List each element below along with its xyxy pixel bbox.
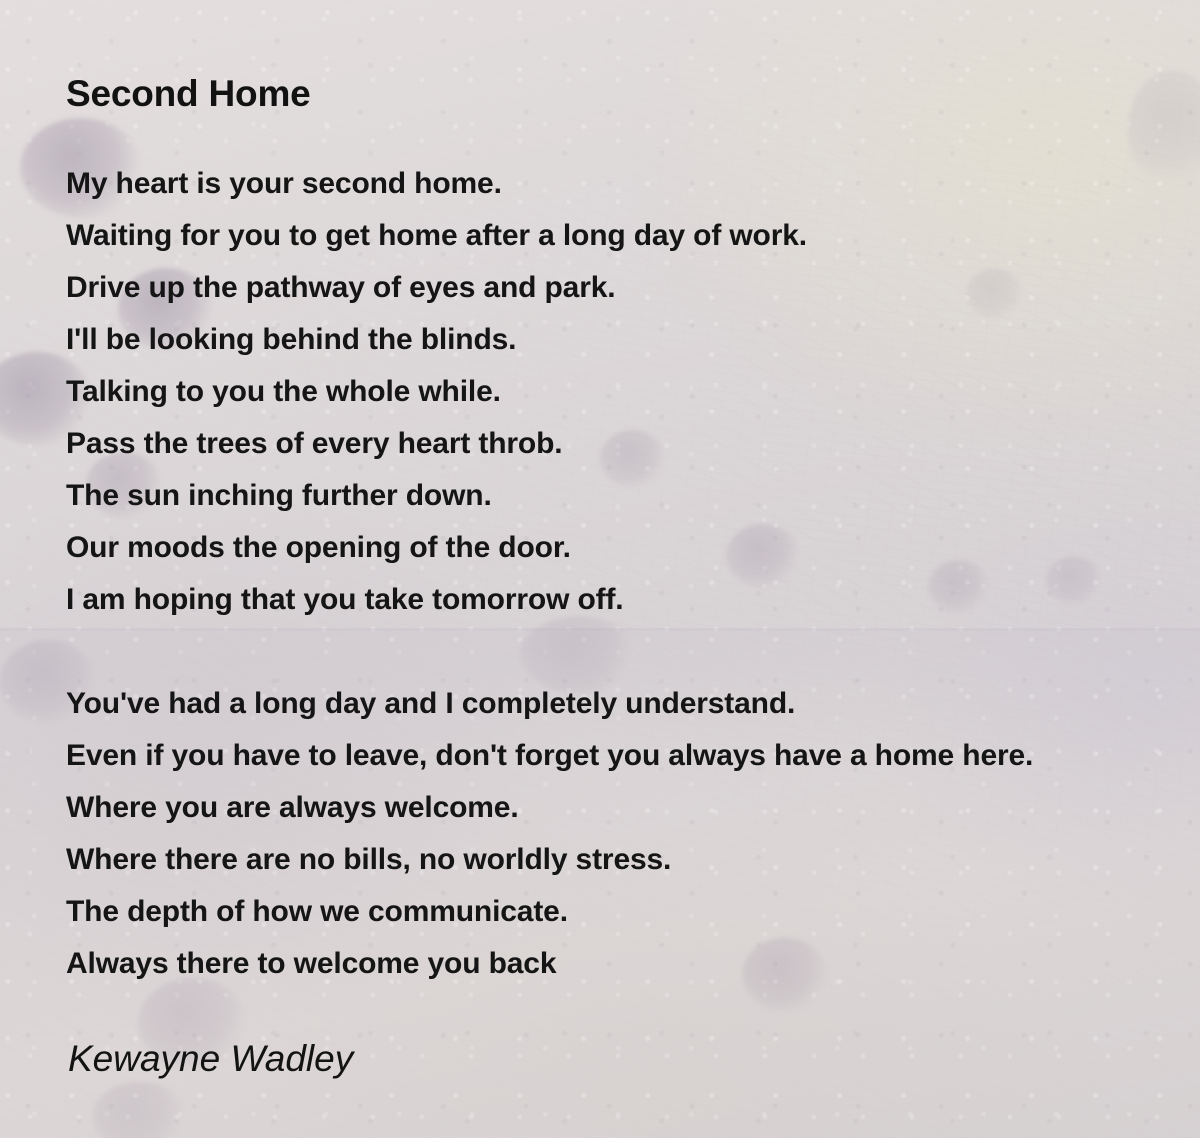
poem-line: I am hoping that you take tomorrow off.: [66, 574, 1176, 626]
poem-line: Drive up the pathway of eyes and park.: [66, 262, 1176, 314]
poem-page: Second Home My heart is your second home…: [0, 0, 1200, 1138]
poem-line: Waiting for you to get home after a long…: [66, 210, 1176, 262]
stanza: You've had a long day and I completely u…: [66, 678, 1176, 990]
poem-line: Our moods the opening of the door.: [66, 522, 1176, 574]
poem-line: I'll be looking behind the blinds.: [66, 314, 1176, 366]
poem-line: Where there are no bills, no worldly str…: [66, 834, 1176, 886]
poem-line: You've had a long day and I completely u…: [66, 678, 1176, 730]
poem-line: The depth of how we communicate.: [66, 886, 1176, 938]
poem-line: Talking to you the whole while.: [66, 366, 1176, 418]
poem-line: My heart is your second home.: [66, 158, 1176, 210]
poem-line: Even if you have to leave, don't forget …: [66, 730, 1176, 782]
author-signature: Kewayne Wadley: [68, 1038, 353, 1080]
poem-line: The sun inching further down.: [66, 470, 1176, 522]
poem-line: Where you are always welcome.: [66, 782, 1176, 834]
page-title: Second Home: [66, 73, 311, 115]
poem-line: Always there to welcome you back: [66, 938, 1176, 990]
poem-line: Pass the trees of every heart throb.: [66, 418, 1176, 470]
poem-body: My heart is your second home. Waiting fo…: [66, 158, 1176, 990]
stanza: My heart is your second home. Waiting fo…: [66, 158, 1176, 626]
